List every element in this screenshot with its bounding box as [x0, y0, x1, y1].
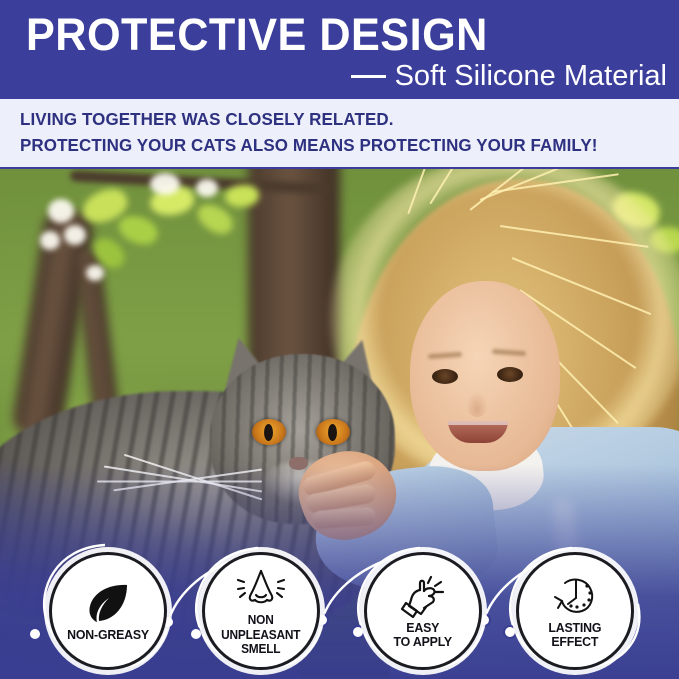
badge-non-unpleasant-smell[interactable]: NON UNPLEASANT SMELL: [202, 552, 320, 670]
girl-eye: [497, 367, 523, 382]
snapping-fingers-icon: [400, 573, 446, 619]
em-dash-rule: [351, 75, 386, 78]
cat-pupil-right: [328, 424, 337, 441]
tagline-line-1: LIVING TOGETHER WAS CLOSELY RELATED.: [20, 109, 394, 130]
header-subtitle: Soft Silicone Material: [395, 60, 667, 92]
blossom: [86, 265, 104, 281]
nose-icon: [236, 565, 286, 611]
header-band: PROTECTIVE DESIGN Soft Silicone Material: [0, 0, 679, 99]
girl-eye: [432, 369, 458, 384]
header-subtitle-row: Soft Silicone Material: [351, 60, 667, 92]
blossom: [64, 225, 86, 245]
blossom: [196, 179, 218, 197]
page-title: PROTECTIVE DESIGN: [26, 9, 488, 61]
badge-label: NON-GREASY: [67, 628, 149, 643]
badge-label: EASY TO APPLY: [394, 621, 452, 650]
blossom: [48, 199, 74, 223]
badge-label: LASTING EFFECT: [549, 621, 602, 650]
badge-non-greasy[interactable]: NON-GREASY: [49, 552, 167, 670]
tagline-line-2: PROTECTING YOUR CATS ALSO MEANS PROTECTI…: [20, 135, 597, 156]
clock-arrow-icon: [551, 573, 599, 619]
blossom: [40, 231, 60, 250]
product-feature-poster: PROTECTIVE DESIGN Soft Silicone Material…: [0, 0, 679, 679]
badge-easy-to-apply[interactable]: EASY TO APPLY: [364, 552, 482, 670]
tagline-band: LIVING TOGETHER WAS CLOSELY RELATED. PRO…: [0, 99, 679, 169]
blossom: [150, 173, 180, 195]
leaf-icon: [86, 580, 130, 626]
girl-nose: [466, 391, 488, 417]
badge-label: NON UNPLEASANT SMELL: [221, 613, 300, 657]
badge-lasting-effect[interactable]: LASTING EFFECT: [516, 552, 634, 670]
